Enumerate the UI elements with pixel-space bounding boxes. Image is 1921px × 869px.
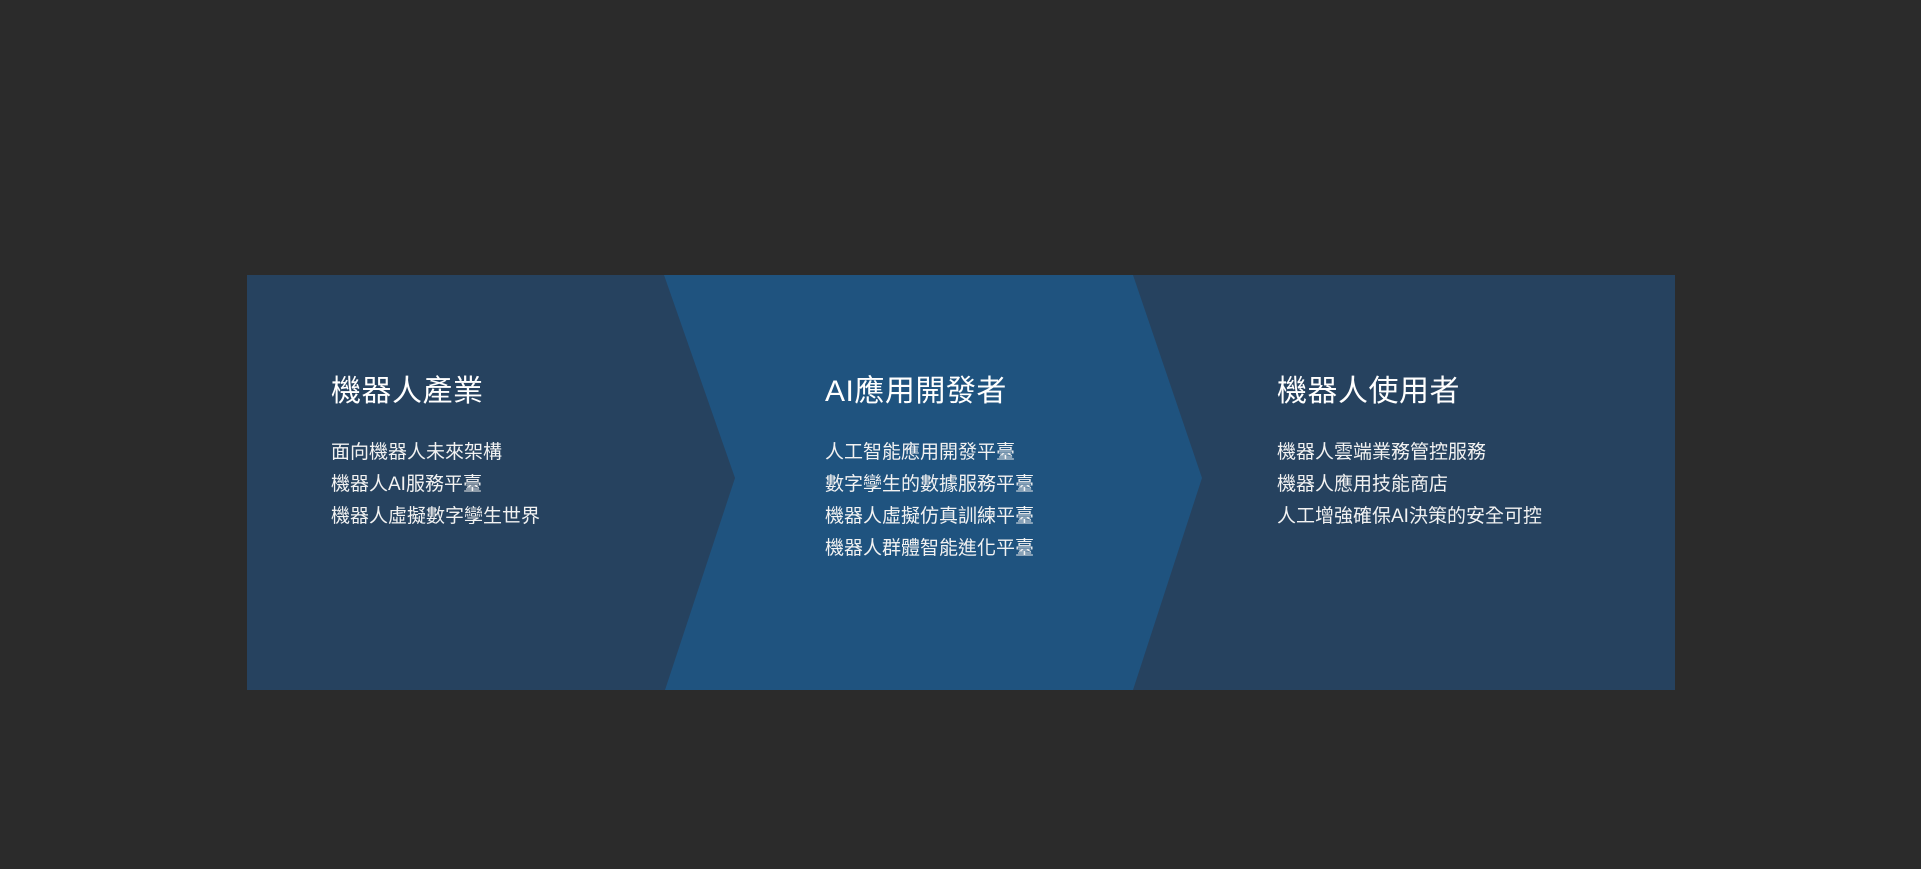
- column-heading: 機器人使用者: [1277, 377, 1460, 407]
- list-item: 機器人AI服務平臺: [331, 475, 540, 494]
- column-item-list: 機器人雲端業務管控服務 機器人應用技能商店 人工增強確保AI決策的安全可控: [1277, 443, 1542, 526]
- list-item: 人工智能應用開發平臺: [825, 443, 1034, 462]
- column-item-list: 面向機器人未來架構 機器人AI服務平臺 機器人虛擬數字孿生世界: [331, 443, 540, 526]
- column-robot-user: 機器人使用者 機器人雲端業務管控服務 機器人應用技能商店 人工增強確保AI決策的…: [1277, 275, 1677, 690]
- list-item: 人工增強確保AI決策的安全可控: [1277, 507, 1542, 526]
- column-heading: AI應用開發者: [825, 377, 1007, 407]
- list-item: 數字孿生的數據服務平臺: [825, 475, 1034, 494]
- list-item: 機器人應用技能商店: [1277, 475, 1542, 494]
- banner-columns: 機器人產業 面向機器人未來架構 機器人AI服務平臺 機器人虛擬數字孿生世界 AI…: [247, 275, 1675, 690]
- list-item: 機器人虛擬數字孿生世界: [331, 507, 540, 526]
- column-item-list: 人工智能應用開發平臺 數字孿生的數據服務平臺 機器人虛擬仿真訓練平臺 機器人群體…: [825, 443, 1034, 558]
- list-item: 面向機器人未來架構: [331, 443, 540, 462]
- chevron-banner: 機器人產業 面向機器人未來架構 機器人AI服務平臺 機器人虛擬數字孿生世界 AI…: [247, 275, 1675, 690]
- column-ai-app-developer: AI應用開發者 人工智能應用開發平臺 數字孿生的數據服務平臺 機器人虛擬仿真訓練…: [825, 275, 1225, 690]
- column-heading: 機器人產業: [331, 377, 484, 407]
- column-robot-industry: 機器人產業 面向機器人未來架構 機器人AI服務平臺 機器人虛擬數字孿生世界: [331, 275, 711, 690]
- list-item: 機器人虛擬仿真訓練平臺: [825, 507, 1034, 526]
- list-item: 機器人雲端業務管控服務: [1277, 443, 1542, 462]
- list-item: 機器人群體智能進化平臺: [825, 539, 1034, 558]
